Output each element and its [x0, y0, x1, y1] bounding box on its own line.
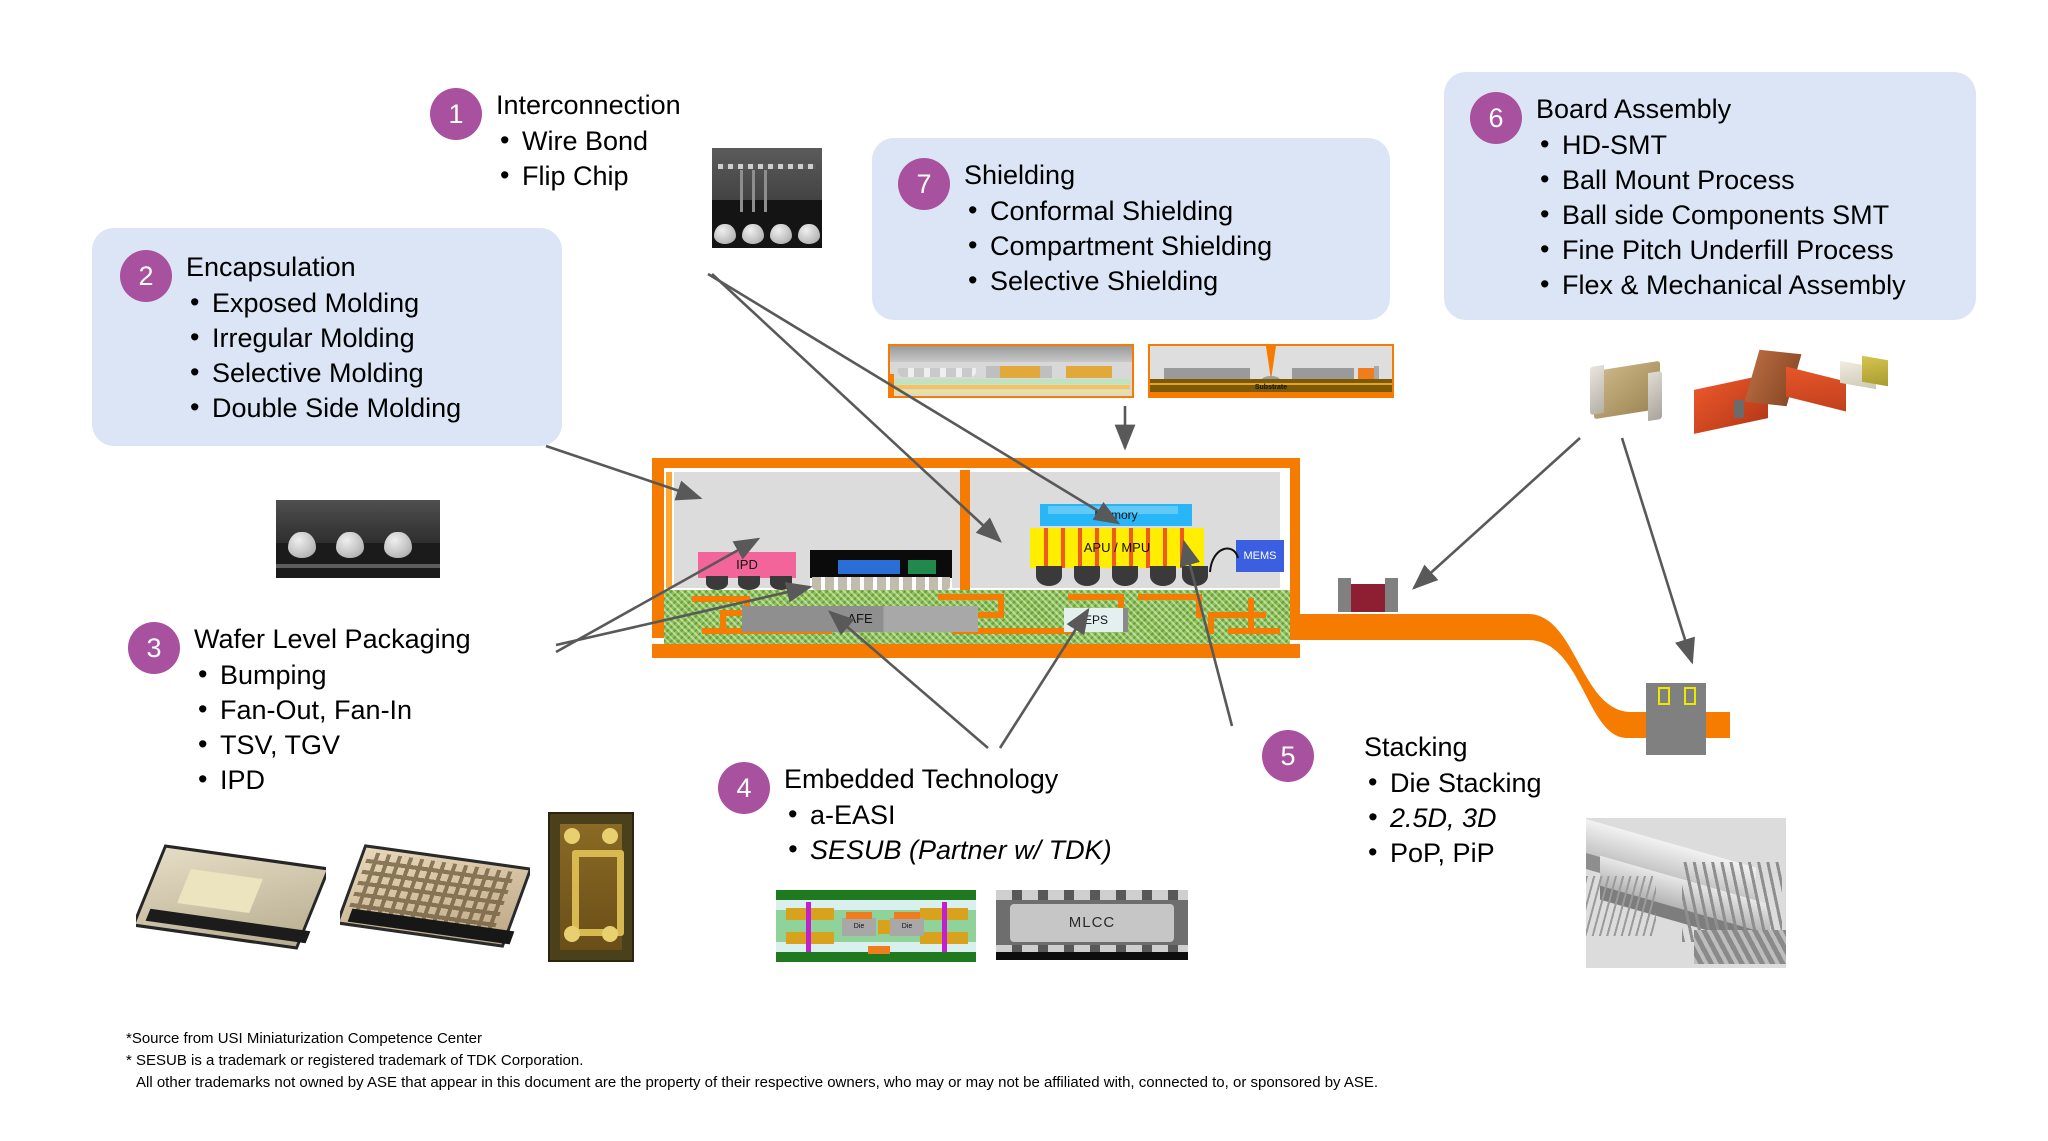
- footnote-line-3: All other trademarks not owned by ASE th…: [126, 1072, 1378, 1094]
- leader-arrow-layer: [0, 0, 2048, 1141]
- footnote-line-1: *Source from USI Miniaturization Compete…: [126, 1028, 1378, 1050]
- footnote-line-2: * SESUB is a trademark or registered tra…: [126, 1050, 1378, 1072]
- footnote-block: *Source from USI Miniaturization Compete…: [126, 1028, 1378, 1094]
